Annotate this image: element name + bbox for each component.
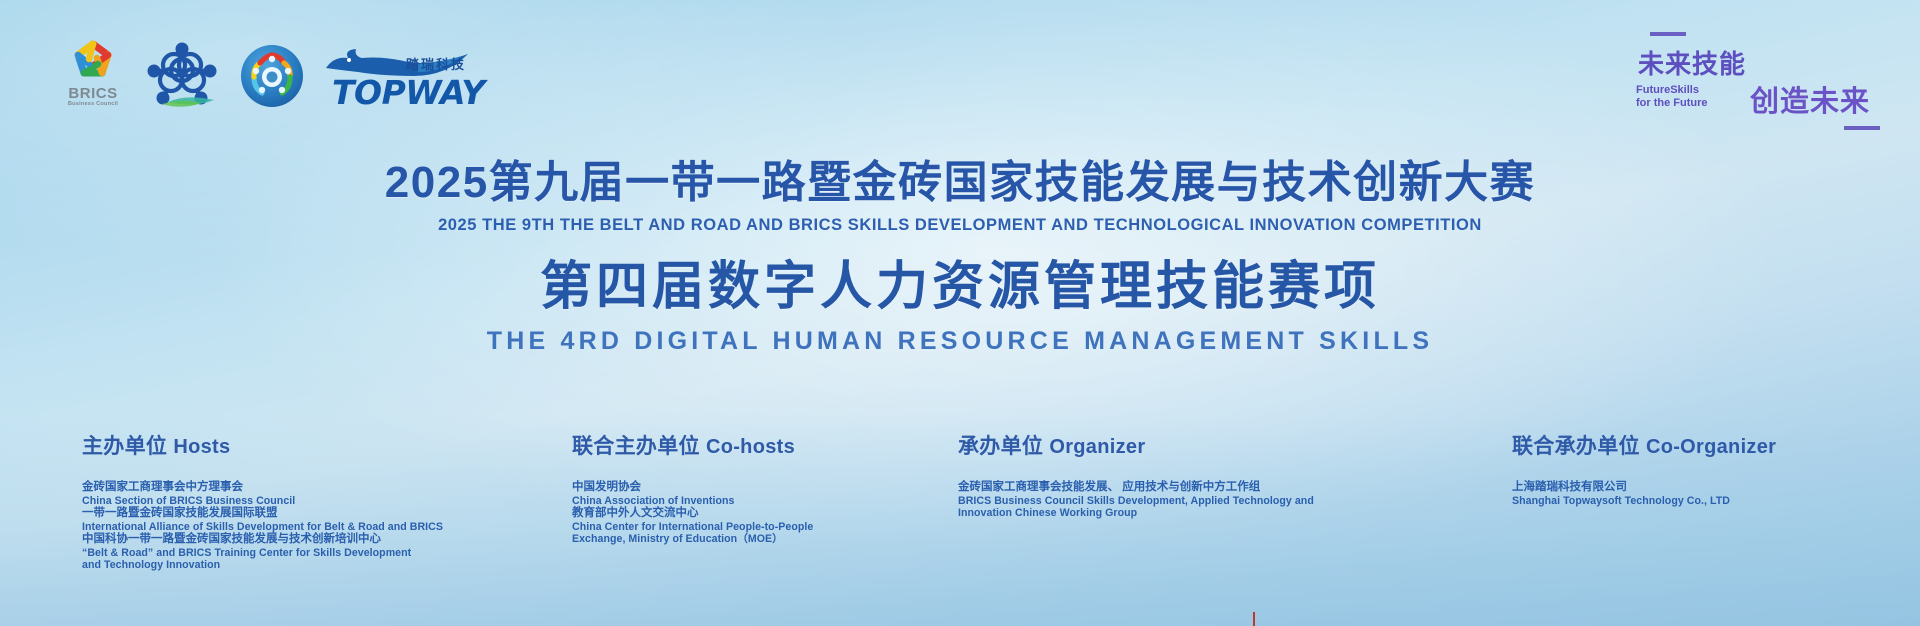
main-title-cn: 2025第九届一带一路暨金砖国家技能发展与技术创新大赛 xyxy=(0,160,1920,207)
bottom-red-marker xyxy=(1253,612,1255,626)
organizer-line: Exchange, Ministry of Education（MOE） xyxy=(572,533,972,546)
organizer-line: 教育部中外人文交流中心 xyxy=(572,507,972,521)
brics-logo-line1: BRICS xyxy=(62,86,124,101)
brics-business-council-logo: BRICS Business Council xyxy=(62,38,124,112)
organizer-heading-en: Hosts xyxy=(173,436,230,458)
future-skills-en: FutureSkills for the Future xyxy=(1636,84,1708,109)
sub-title-en: THE 4RD DIGITAL HUMAN RESOURCE MANAGEMEN… xyxy=(0,327,1920,356)
future-skills-cn-bottom: 创造未来 xyxy=(1750,78,1870,120)
organizer-heading-cn: 承办单位 xyxy=(958,435,1043,458)
rule-bottom xyxy=(1844,126,1880,130)
future-skills-en-line2: for the Future xyxy=(1636,97,1708,110)
organizer-line: 金砖国家工商理事会技能发展、 应用技术与创新中方工作组 xyxy=(958,481,1388,495)
organizer-heading: 承办单位 Organizer xyxy=(958,430,1388,460)
organizer-line: 上海踏瑞科技有限公司 xyxy=(1512,481,1892,495)
brics-star-icon xyxy=(64,38,122,86)
organizer-line: Innovation Chinese Working Group xyxy=(958,507,1388,520)
organizer-heading: 联合主办单位 Co-hosts xyxy=(572,430,972,460)
organizer-line: China Center for International People-to… xyxy=(572,521,972,534)
rule-top xyxy=(1650,32,1686,36)
future-skills-cn-top: 未来技能 xyxy=(1638,44,1746,81)
organizer-column-organizer: 承办单位 Organizer 金砖国家工商理事会技能发展、 应用技术与创新中方工… xyxy=(958,430,1388,520)
organizer-line: Shanghai Topwaysoft Technology Co., LTD xyxy=(1512,495,1892,508)
organizer-heading: 联合承办单位 Co-Organizer xyxy=(1512,430,1892,460)
brics-logo-line2: Business Council xyxy=(62,102,124,108)
organizer-line: BRICS Business Council Skills Developmen… xyxy=(958,495,1388,508)
organizer-heading-cn: 联合承办单位 xyxy=(1512,435,1640,458)
organizer-heading: 主办单位 Hosts xyxy=(82,430,522,460)
future-skills-mark: 未来技能 FutureSkills for the Future 创造未来 xyxy=(1632,32,1880,132)
organizer-line: and Technology Innovation xyxy=(82,559,522,572)
organizer-heading-cn: 主办单位 xyxy=(82,435,167,458)
organizer-heading-en: Co-hosts xyxy=(706,436,795,458)
organizer-line: “Belt & Road” and BRICS Training Center … xyxy=(82,547,522,560)
topway-chinese-name: 踏瑞科技 xyxy=(406,54,466,73)
organizer-line: International Alliance of Skills Develop… xyxy=(82,521,522,534)
organizer-body: 金砖国家工商理事会中方理事会 China Section of BRICS Bu… xyxy=(82,481,522,572)
future-skills-en-line1: FutureSkills xyxy=(1636,84,1708,97)
organizer-column-hosts: 主办单位 Hosts 金砖国家工商理事会中方理事会 China Section … xyxy=(82,430,522,572)
topway-logo: 踏瑞科技 TOPWAY xyxy=(330,48,466,110)
brics-logo-text: BRICS Business Council xyxy=(62,86,124,108)
organizer-body: 金砖国家工商理事会技能发展、 应用技术与创新中方工作组 BRICS Busine… xyxy=(958,481,1388,520)
sub-title-cn: 第四届数字人力资源管理技能赛项 xyxy=(0,259,1920,315)
organizer-heading-en: Co-Organizer xyxy=(1646,436,1776,458)
sponsor-logo-row: BRICS Business Council xyxy=(62,38,466,112)
skills-rings-logo xyxy=(144,40,220,112)
organizer-column-coorganizer: 联合承办单位 Co-Organizer 上海踏瑞科技有限公司 Shanghai … xyxy=(1512,430,1892,507)
organizer-heading-en: Organizer xyxy=(1049,436,1145,458)
competition-banner: BRICS Business Council xyxy=(0,0,1920,626)
organizer-line: China Association of Inventions xyxy=(572,495,972,508)
star-emblem-logo xyxy=(240,44,304,108)
title-block: 2025第九届一带一路暨金砖国家技能发展与技术创新大赛 2025 THE 9TH… xyxy=(0,160,1920,356)
organizer-line: 金砖国家工商理事会中方理事会 xyxy=(82,481,522,495)
organizer-line: 中国科协一带一路暨金砖国家技能发展与技术创新培训中心 xyxy=(82,533,522,547)
topway-wordmark: TOPWAY xyxy=(332,73,485,112)
organizer-body: 上海踏瑞科技有限公司 Shanghai Topwaysoft Technolog… xyxy=(1512,481,1892,507)
organizer-body: 中国发明协会 China Association of Inventions 教… xyxy=(572,481,972,546)
organizer-line: 一带一路暨金砖国家技能发展国际联盟 xyxy=(82,507,522,521)
main-title-en: 2025 THE 9TH THE BELT AND ROAD AND BRICS… xyxy=(0,216,1920,235)
organizer-line: 中国发明协会 xyxy=(572,481,972,495)
organizer-heading-cn: 联合主办单位 xyxy=(572,435,700,458)
organizer-column-cohosts: 联合主办单位 Co-hosts 中国发明协会 China Association… xyxy=(572,430,972,546)
organizer-line: China Section of BRICS Business Council xyxy=(82,495,522,508)
